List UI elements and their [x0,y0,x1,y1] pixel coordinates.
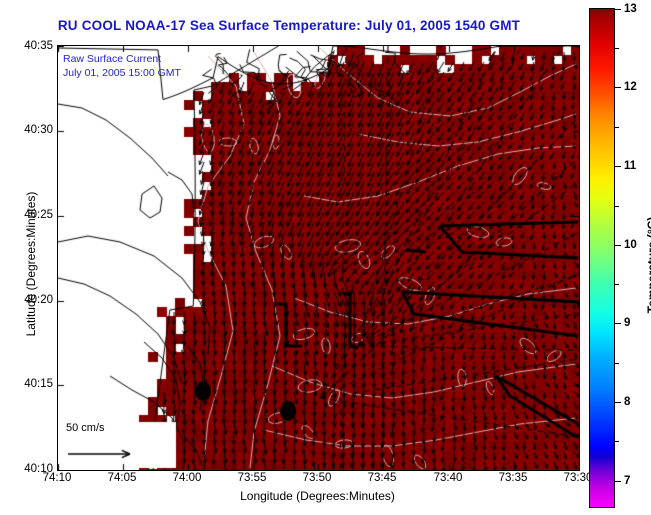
colorbar-tick [615,87,621,88]
colorbar-tick-label: 13 [624,3,637,15]
colorbar-minor-tick [615,284,619,285]
colorbar-tick [615,402,621,403]
vector-scale-legend: 50 cm/s [58,422,178,470]
x-tick-label: 73:45 [368,472,397,484]
x-tick-label: 74:00 [173,472,202,484]
colorbar-tick-label: 10 [624,239,637,251]
colorbar-minor-tick [615,48,619,49]
x-tick-label: 74:05 [108,472,137,484]
colorbar-minor-tick [615,363,619,364]
colorbar-tick-label: 7 [624,475,630,487]
colorbar-tick-label: 11 [624,160,636,172]
y-axis-label: Latitude (Degrees:Minutes) [24,144,38,384]
x-tick-label: 74:10 [43,472,72,484]
sst-map-plot[interactable]: Raw Surface Current July 01, 2005 15:00 … [57,45,580,471]
colorbar [589,8,615,508]
y-tick-label: 40:35 [24,40,53,52]
colorbar-tick [615,9,621,10]
y-tick-label: 40:30 [24,124,53,136]
colorbar-tick [615,323,621,324]
colorbar-minor-tick [615,127,619,128]
colorbar-tick-label: 9 [624,317,630,329]
x-tick-label: 73:40 [434,472,463,484]
vector-scale-label: 50 cm/s [66,422,105,434]
colorbar-tick-label: 8 [624,396,630,408]
colorbar-tick [615,481,621,482]
colorbar-tick [615,245,621,246]
colorbar-tick [615,166,621,167]
colorbar-minor-tick [615,441,619,442]
page-title: RU COOL NOAA-17 Sea Surface Temperature:… [0,18,578,33]
colorbar-tick-label: 12 [624,81,637,93]
x-tick-label: 73:55 [238,472,267,484]
x-axis-label: Longitude (Degrees:Minutes) [57,489,578,503]
colorbar-minor-tick [615,206,619,207]
x-tick-label: 73:50 [303,472,332,484]
x-tick-label: 73:35 [499,472,528,484]
sst-map-canvas[interactable] [58,46,579,470]
colorbar-label: Temperature (°C) [645,185,651,345]
